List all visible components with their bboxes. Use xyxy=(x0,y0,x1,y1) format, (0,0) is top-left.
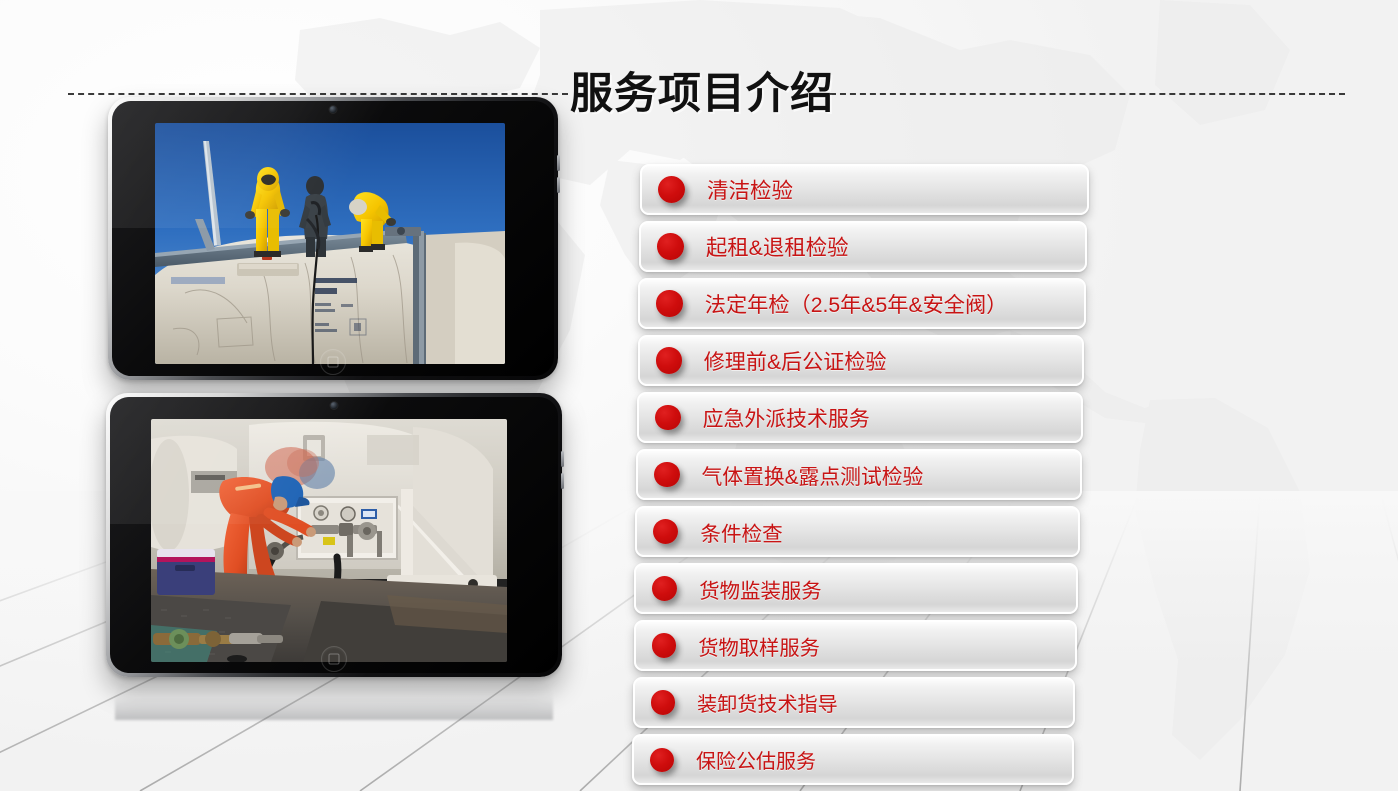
service-item-10[interactable]: 装卸货技术指导 xyxy=(633,677,1076,728)
service-item-1[interactable]: 清洁检验 xyxy=(640,164,1089,215)
photo-tank-top-inspection xyxy=(155,123,505,364)
bullet-dot-icon xyxy=(651,690,675,714)
tablet-device-top xyxy=(108,97,558,380)
service-item-label: 保险公估服务 xyxy=(696,745,816,774)
home-button[interactable] xyxy=(320,349,346,375)
service-item-label: 清洁检验 xyxy=(707,174,793,205)
service-item-9[interactable]: 货物取样服务 xyxy=(634,620,1077,671)
tablet-bottom-reflection xyxy=(115,678,553,720)
service-item-6[interactable]: 气体置换&露点测试检验 xyxy=(636,449,1082,500)
home-button[interactable] xyxy=(321,646,347,672)
volume-up-button[interactable] xyxy=(561,451,564,467)
service-item-label: 气体置换&露点测试检验 xyxy=(702,460,924,490)
front-camera-icon xyxy=(331,402,338,409)
tablet-bottom-screen xyxy=(151,419,507,662)
bullet-dot-icon xyxy=(654,462,680,488)
service-item-11[interactable]: 保险公估服务 xyxy=(632,734,1074,785)
bullet-dot-icon xyxy=(656,347,682,373)
photo-valve-operation xyxy=(151,419,507,662)
service-item-label: 修理前&后公证检验 xyxy=(704,346,887,376)
service-item-3[interactable]: 法定年检（2.5年&5年&安全阀） xyxy=(638,278,1086,329)
header-rule-left xyxy=(68,93,568,95)
service-item-label: 装卸货技术指导 xyxy=(697,688,838,717)
service-item-8[interactable]: 货物监装服务 xyxy=(634,563,1078,614)
service-item-5[interactable]: 应急外派技术服务 xyxy=(637,392,1083,443)
service-item-7[interactable]: 条件检查 xyxy=(635,506,1080,557)
bullet-dot-icon xyxy=(653,519,678,544)
bullet-dot-icon xyxy=(656,290,682,316)
volume-down-button[interactable] xyxy=(557,177,560,193)
service-item-label: 起租&退租检验 xyxy=(706,231,849,262)
slide-canvas: 服务项目介绍 xyxy=(0,0,1398,791)
bullet-dot-icon xyxy=(652,633,677,658)
tablet-top-screen xyxy=(155,123,505,364)
header-rule-right xyxy=(830,93,1345,95)
bullet-dot-icon xyxy=(652,576,677,601)
service-item-2[interactable]: 起租&退租检验 xyxy=(639,221,1087,272)
service-item-label: 货物取样服务 xyxy=(698,631,820,661)
bullet-dot-icon xyxy=(658,176,685,203)
bullet-dot-icon xyxy=(650,748,674,772)
volume-down-button[interactable] xyxy=(561,473,564,489)
service-item-label: 条件检查 xyxy=(700,517,782,547)
tablet-device-bottom xyxy=(106,393,562,677)
service-item-label: 货物监装服务 xyxy=(699,574,821,604)
service-item-4[interactable]: 修理前&后公证检验 xyxy=(638,335,1085,386)
volume-up-button[interactable] xyxy=(557,155,560,171)
bullet-dot-icon xyxy=(655,405,681,431)
bullet-dot-icon xyxy=(657,233,684,260)
page-title: 服务项目介绍 xyxy=(570,70,834,118)
service-item-label: 应急外派技术服务 xyxy=(703,403,870,433)
front-camera-icon xyxy=(330,106,337,113)
service-item-label: 法定年检（2.5年&5年&安全阀） xyxy=(705,288,1008,319)
